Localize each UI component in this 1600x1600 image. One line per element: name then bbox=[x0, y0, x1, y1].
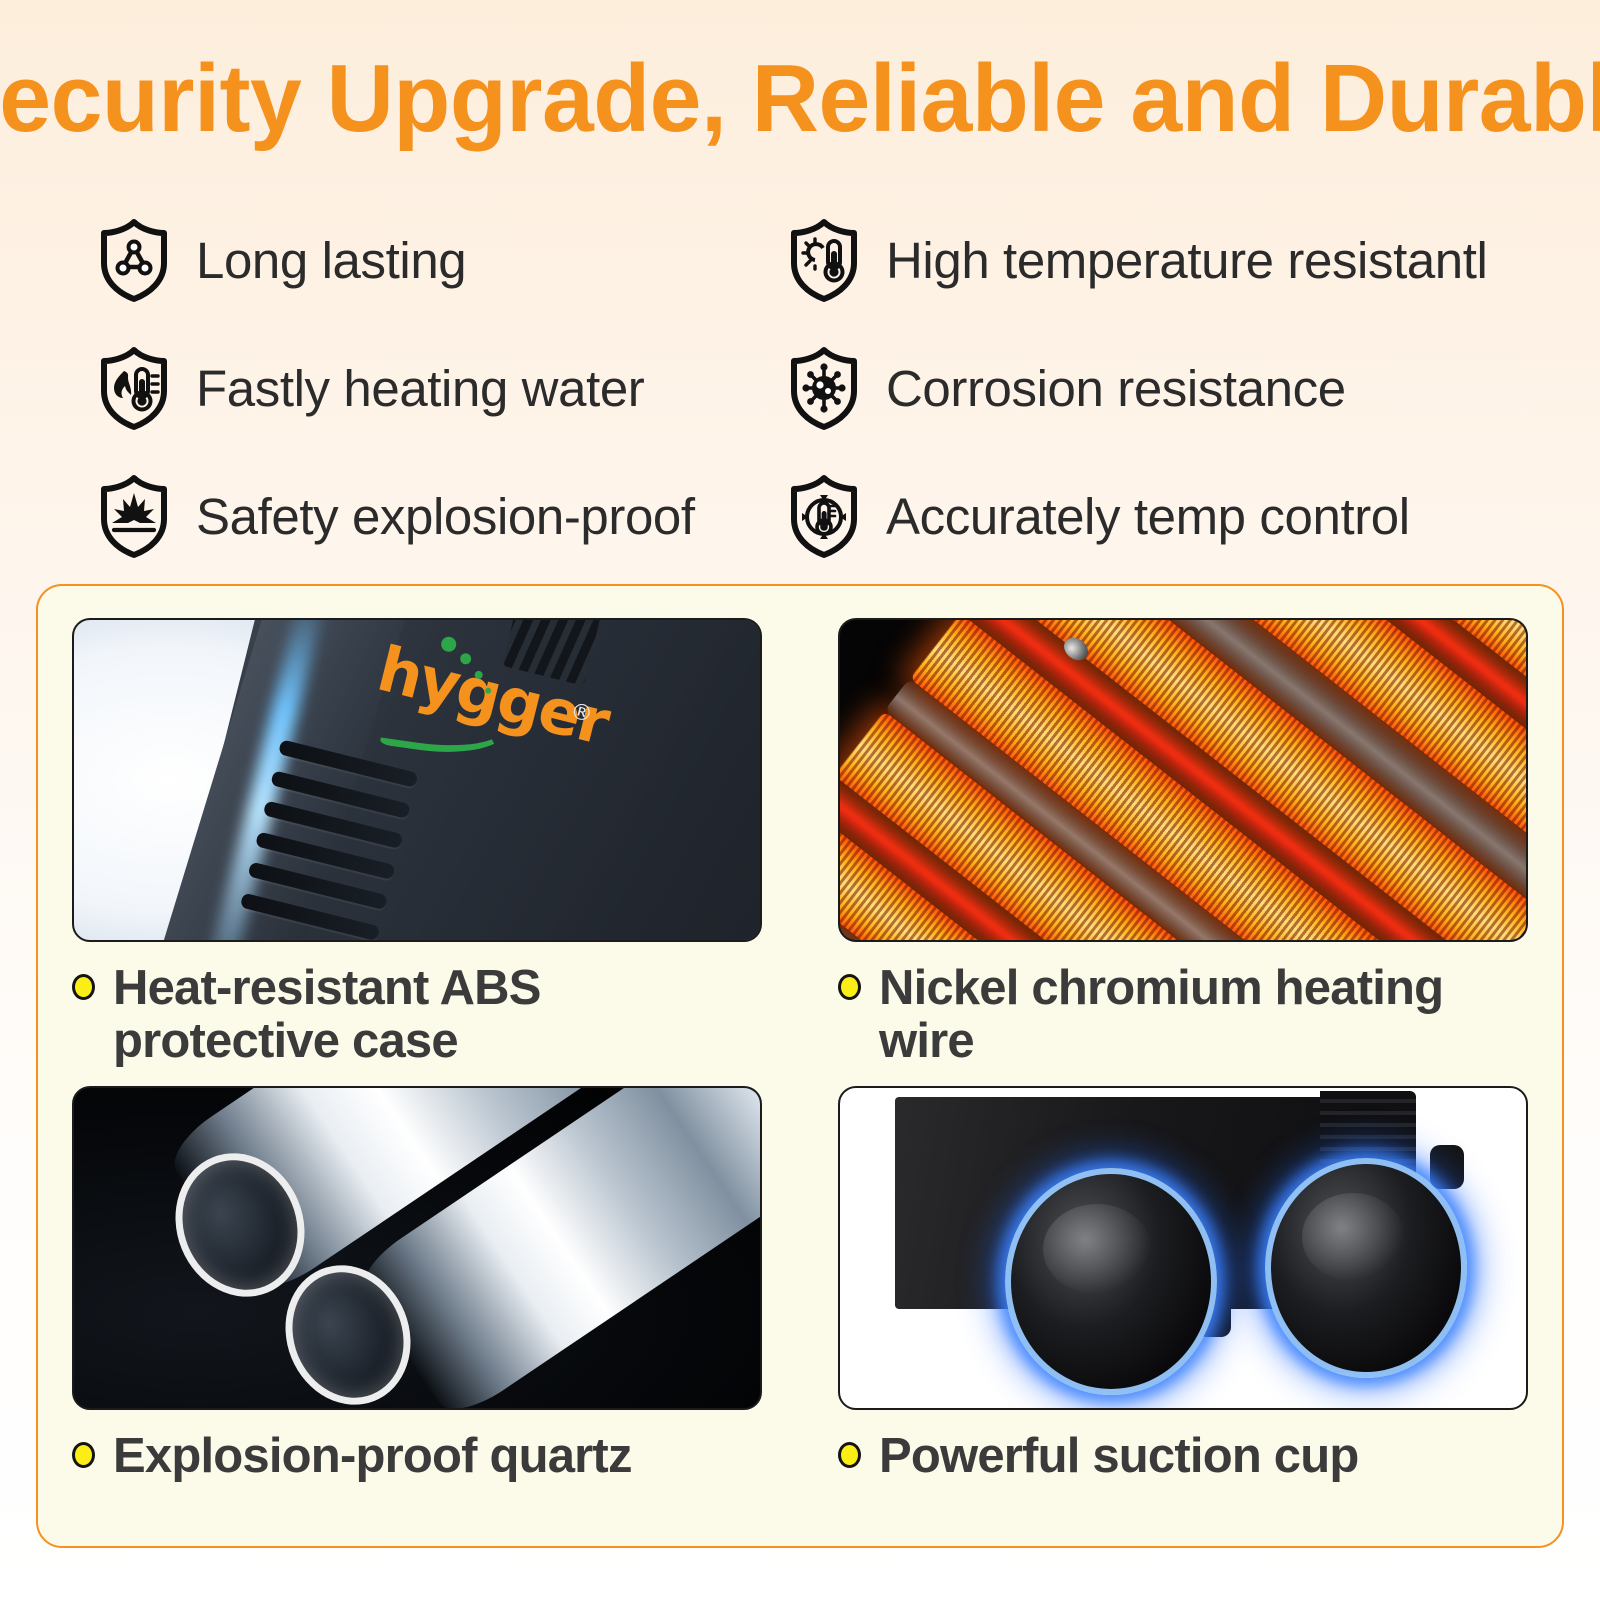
abs-protective-case-photo: hygger ® bbox=[72, 618, 762, 942]
product-card-abs-case: hygger ® Heat-resistant ABS protective c… bbox=[72, 618, 762, 1068]
explosion-proof-quartz-photo bbox=[72, 1086, 762, 1410]
feature-label: Long lasting bbox=[196, 231, 466, 290]
product-card-heating-wire: Nickel chromium heating wire bbox=[838, 618, 1528, 1068]
shield-explosion-icon bbox=[96, 473, 172, 559]
feature-label: Accurately temp control bbox=[886, 487, 1410, 546]
shield-precision-thermometer-icon bbox=[786, 473, 862, 559]
feature-item-fastly-heating-water: Fastly heating water bbox=[96, 345, 786, 431]
feature-label: Corrosion resistance bbox=[886, 359, 1346, 418]
product-card-quartz: Explosion-proof quartz bbox=[72, 1086, 762, 1526]
product-detail-panel: hygger ® Heat-resistant ABS protective c… bbox=[36, 584, 1564, 1548]
card-caption-text: Heat-resistant ABS protective case bbox=[113, 962, 762, 1068]
infographic-page: Security Upgrade, Reliable and Durable L… bbox=[0, 0, 1600, 1600]
nickel-chromium-heating-wire-photo bbox=[838, 618, 1528, 942]
page-title: Security Upgrade, Reliable and Durable bbox=[0, 51, 1600, 147]
suction-cup-tab bbox=[1430, 1145, 1464, 1189]
card-caption-text: Nickel chromium heating wire bbox=[879, 962, 1528, 1068]
feature-item-corrosion-resistance: Corrosion resistance bbox=[786, 345, 1536, 431]
shield-germ-icon bbox=[786, 345, 862, 431]
feature-list: Long lasting bbox=[96, 196, 1536, 580]
bullet-icon bbox=[838, 974, 861, 1000]
heating-wire-group bbox=[838, 618, 1528, 942]
feature-item-high-temperature-resistant: High temperature resistantl bbox=[786, 217, 1536, 303]
card-caption-text: Powerful suction cup bbox=[879, 1430, 1358, 1483]
product-card-suction-cup: Powerful suction cup bbox=[838, 1086, 1528, 1526]
page-title-container: Security Upgrade, Reliable and Durable bbox=[0, 38, 1600, 160]
powerful-suction-cup-photo bbox=[838, 1086, 1528, 1410]
card-caption: Nickel chromium heating wire bbox=[838, 942, 1528, 1068]
suction-cup-left bbox=[1005, 1168, 1217, 1395]
bullet-icon bbox=[72, 974, 95, 1000]
shield-flame-thermometer-icon bbox=[96, 345, 172, 431]
feature-label: Fastly heating water bbox=[196, 359, 644, 418]
feature-item-long-lasting: Long lasting bbox=[96, 217, 786, 303]
bullet-icon bbox=[72, 1442, 95, 1468]
card-caption: Powerful suction cup bbox=[838, 1410, 1528, 1483]
shield-molecule-icon bbox=[96, 217, 172, 303]
quartz-tube-group bbox=[72, 1086, 762, 1410]
feature-item-accurately-temp-control: Accurately temp control bbox=[786, 473, 1536, 559]
card-caption-text: Explosion-proof quartz bbox=[113, 1430, 632, 1483]
product-card-grid: hygger ® Heat-resistant ABS protective c… bbox=[72, 618, 1528, 1526]
bullet-icon bbox=[838, 1442, 861, 1468]
shield-sun-thermometer-icon bbox=[786, 217, 862, 303]
card-caption: Explosion-proof quartz bbox=[72, 1410, 762, 1483]
feature-label: High temperature resistantl bbox=[886, 231, 1487, 290]
suction-cup-right bbox=[1265, 1158, 1467, 1378]
card-caption: Heat-resistant ABS protective case bbox=[72, 942, 762, 1068]
feature-item-safety-explosion-proof: Safety explosion-proof bbox=[96, 473, 786, 559]
feature-label: Safety explosion-proof bbox=[196, 487, 695, 546]
